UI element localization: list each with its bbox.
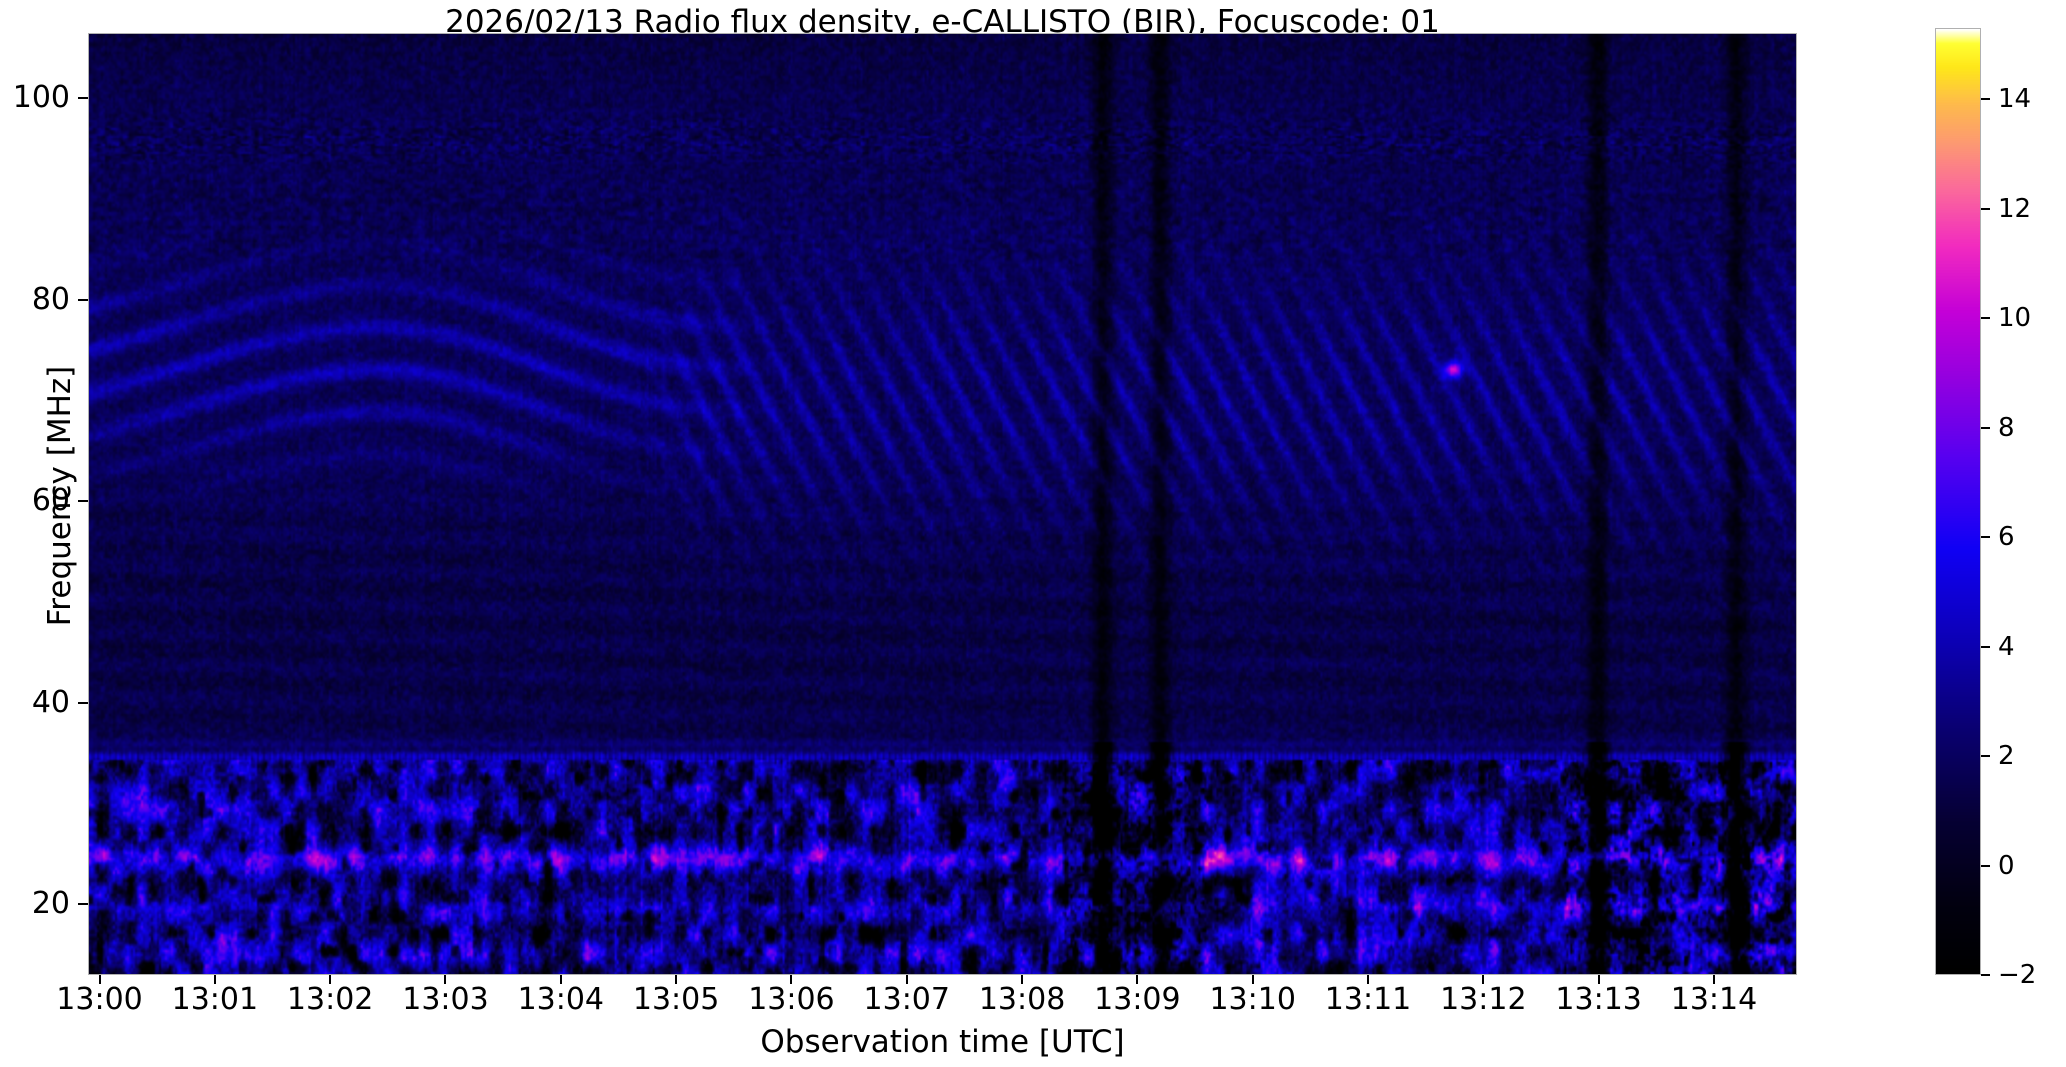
x-tick-label: 13:13 [1555,984,1641,1016]
y-tick-mark [78,702,88,704]
colorbar-tick-mark [1981,974,1990,976]
x-tick-label: 13:08 [979,984,1065,1016]
colorbar-tick-label: 2 [1998,743,2015,769]
y-tick-mark [78,97,88,99]
colorbar-tick-label: 0 [1998,853,2015,879]
x-tick-label: 13:06 [748,984,834,1016]
figure-canvas: 2026/02/13 Radio flux density, e-CALLIST… [0,0,2066,1067]
colorbar-tick-label: 6 [1998,524,2015,550]
colorbar-tick-mark [1981,865,1990,867]
y-tick-label: 60 [0,486,70,516]
x-tick-label: 13:01 [172,984,258,1016]
colorbar-tick-mark [1981,98,1990,100]
x-tick-label: 13:03 [402,984,488,1016]
x-axis-label: Observation time [UTC] [88,1024,1797,1060]
y-tick-mark [78,500,88,502]
x-tick-label: 13:04 [518,984,604,1016]
y-tick-label: 40 [0,688,70,718]
x-tick-label: 13:11 [1325,984,1411,1016]
colorbar-label-wrapper: dB above background [2024,28,2064,975]
colorbar-tick-mark [1981,755,1990,757]
y-tick-mark [78,299,88,301]
colorbar-tick-mark [1981,536,1990,538]
y-tick-label: 20 [0,889,70,919]
x-tick-label: 13:02 [287,984,373,1016]
colorbar-tick-label: 8 [1998,415,2015,441]
spectrogram-image [89,34,1796,974]
colorbar-tick-mark [1981,646,1990,648]
y-tick-mark [78,903,88,905]
colorbar[interactable] [1935,28,1981,975]
colorbar-tick-mark [1981,208,1990,210]
colorbar-tick-mark [1981,427,1990,429]
x-tick-label: 13:14 [1671,984,1757,1016]
y-tick-label: 80 [0,285,70,315]
x-tick-label: 13:10 [1209,984,1295,1016]
spectrogram-axes[interactable] [88,33,1797,975]
colorbar-tick-mark [1981,317,1990,319]
x-tick-label: 13:00 [56,984,142,1016]
x-tick-label: 13:07 [864,984,950,1016]
y-tick-label: 100 [0,83,70,113]
colorbar-gradient [1936,29,1980,974]
x-tick-label: 13:09 [1094,984,1180,1016]
x-tick-label: 13:12 [1440,984,1526,1016]
x-tick-label: 13:05 [633,984,719,1016]
colorbar-tick-label: 4 [1998,634,2015,660]
